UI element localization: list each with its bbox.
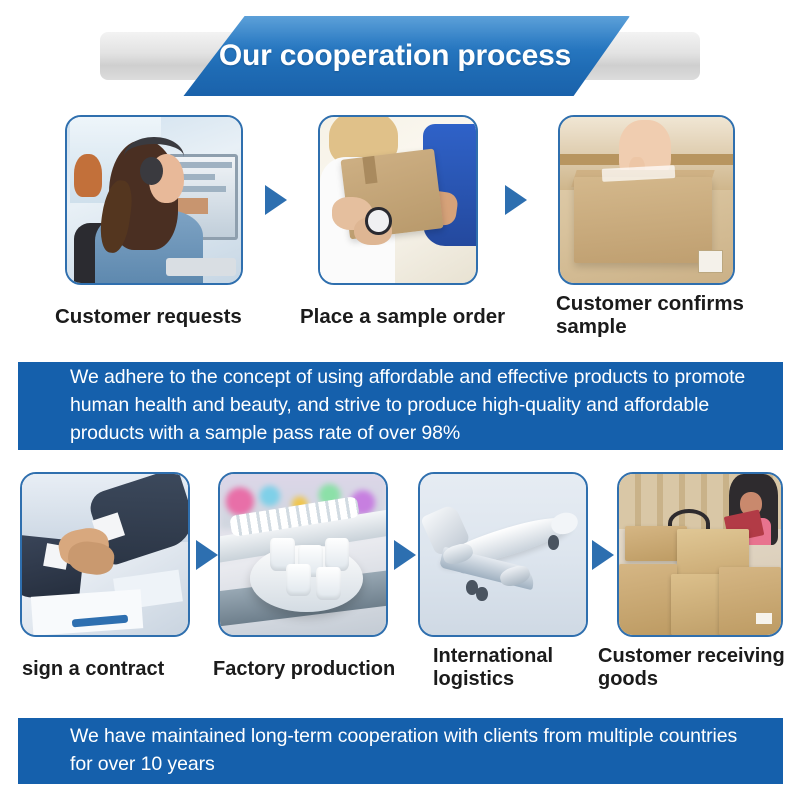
step-card-customer-receiving-goods	[617, 472, 783, 637]
arrow-icon-row2-2	[394, 540, 416, 570]
production-line-photo	[220, 474, 386, 635]
header-banner: Our cooperation process	[0, 16, 800, 96]
arrow-icon-row2-3	[592, 540, 614, 570]
step-caption-customer-requests: Customer requests	[55, 305, 265, 328]
cooperation-process-infographic: Our cooperation process Customer request…	[0, 0, 800, 800]
page-title: Our cooperation process	[160, 16, 630, 96]
step-card-place-sample-order	[318, 115, 478, 285]
step-caption-factory-production: Factory production	[213, 658, 413, 681]
mission-statement-banner: We adhere to the concept of using afford…	[18, 362, 783, 450]
experience-statement-banner: We have maintained long-term cooperation…	[18, 718, 783, 784]
step-caption-place-sample-order: Place a sample order	[300, 305, 525, 328]
experience-statement-text: We have maintained long-term cooperation…	[18, 723, 783, 778]
step-card-factory-production	[218, 472, 388, 637]
sealing-carton-box-photo	[560, 117, 733, 283]
step-card-customer-requests	[65, 115, 243, 285]
arrow-icon-row1-2	[505, 185, 527, 215]
call-center-agent-photo	[67, 117, 241, 283]
cargo-airplane-photo	[420, 474, 586, 635]
step-card-international-logistics	[418, 472, 588, 637]
step-card-customer-confirms-sample	[558, 115, 735, 285]
handshake-photo	[22, 474, 188, 635]
handing-over-box-photo	[320, 117, 476, 283]
arrow-icon-row1-1	[265, 185, 287, 215]
mission-statement-text: We adhere to the concept of using afford…	[18, 364, 783, 447]
step-caption-sign-contract: sign a contract	[22, 658, 207, 681]
arrow-icon-row2-1	[196, 540, 218, 570]
step-caption-customer-receiving-goods: Customer receiving goods	[598, 645, 798, 690]
warehouse-boxes-photo	[619, 474, 781, 635]
step-caption-international-logistics: International logistics	[433, 645, 583, 690]
step-caption-customer-confirms-sample: Customer confirms sample	[556, 292, 756, 338]
step-card-sign-contract	[20, 472, 190, 637]
